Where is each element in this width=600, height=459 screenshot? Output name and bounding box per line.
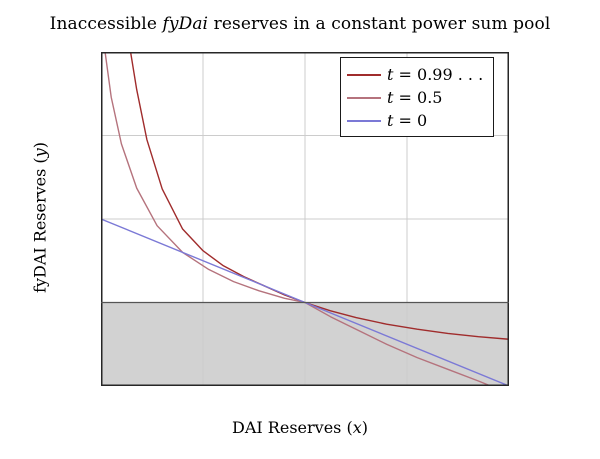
chart-title-suffix: reserves in a constant power sum pool: [208, 14, 550, 34]
chart-title-math-term: fyDai: [163, 14, 209, 34]
legend-swatch-icon: [347, 120, 381, 122]
legend-item-label: t = 0.99 . . .: [387, 67, 483, 83]
y-axis-label-variable: y: [31, 148, 50, 157]
legend-swatch-icon: [347, 97, 381, 99]
legend-swatch-icon: [347, 74, 381, 76]
legend-item[interactable]: t = 0.5: [347, 86, 485, 109]
y-axis-label-close: ): [31, 142, 50, 148]
chart-title-prefix: Inaccessible: [50, 14, 163, 34]
y-axis-label-text: fyDAI Reserves (: [31, 157, 50, 293]
x-axis-label-variable: x: [353, 418, 362, 437]
chart-title: Inaccessible fyDai reserves in a constan…: [0, 14, 600, 34]
y-axis-label: fyDAI Reserves (y): [31, 73, 50, 363]
legend-item[interactable]: t = 0.99 . . .: [347, 63, 485, 86]
y-axis-label-container: fyDAI Reserves (y): [0, 0, 40, 459]
x-axis-label-close: ): [362, 418, 368, 437]
x-axis-label: DAI Reserves (x): [0, 418, 600, 437]
legend-item-label: t = 0: [387, 113, 427, 129]
chart-legend[interactable]: t = 0.99 . . . t = 0.5 t = 0: [340, 57, 494, 137]
legend-item[interactable]: t = 0: [347, 109, 485, 132]
legend-item-label: t = 0.5: [387, 90, 442, 106]
x-axis-label-text: DAI Reserves (: [232, 418, 353, 437]
chart-figure: Inaccessible fyDai reserves in a constan…: [0, 0, 600, 459]
